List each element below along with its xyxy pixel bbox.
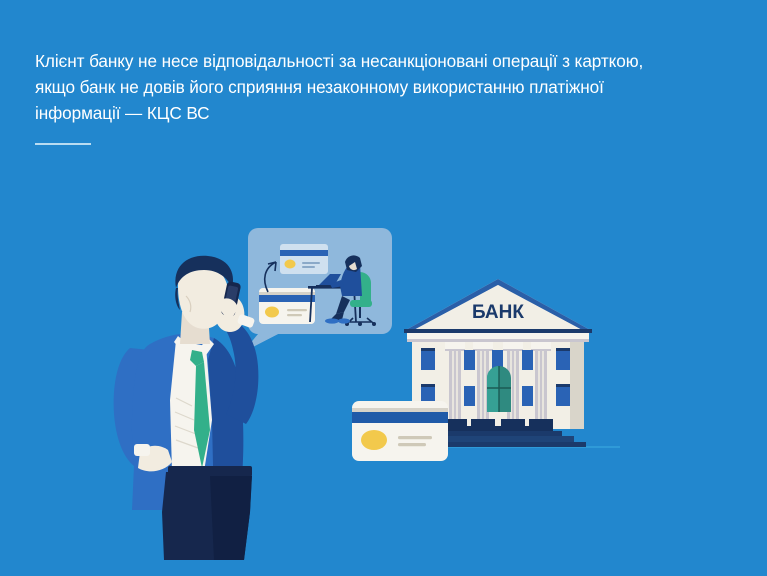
bank-sign-text: БАНК — [472, 302, 524, 323]
slide-root: БАНК — [0, 0, 767, 576]
bank-cornice — [404, 329, 592, 333]
bank-entablature-shadow — [407, 339, 589, 342]
cuff-left — [134, 444, 150, 456]
bank-wall-shadow — [570, 337, 584, 429]
businessman — [114, 256, 259, 560]
chair-seat — [350, 300, 372, 307]
trousers-shadow — [210, 476, 252, 560]
title-underline-rule — [35, 143, 91, 145]
card-in-bubble-bottom — [259, 288, 315, 324]
page-title: Клієнт банку не несе відповідальності за… — [35, 48, 715, 126]
card-foreground — [352, 401, 448, 461]
card-chip — [361, 430, 387, 450]
card-in-bubble-top — [280, 244, 328, 274]
bank-door — [487, 366, 511, 412]
